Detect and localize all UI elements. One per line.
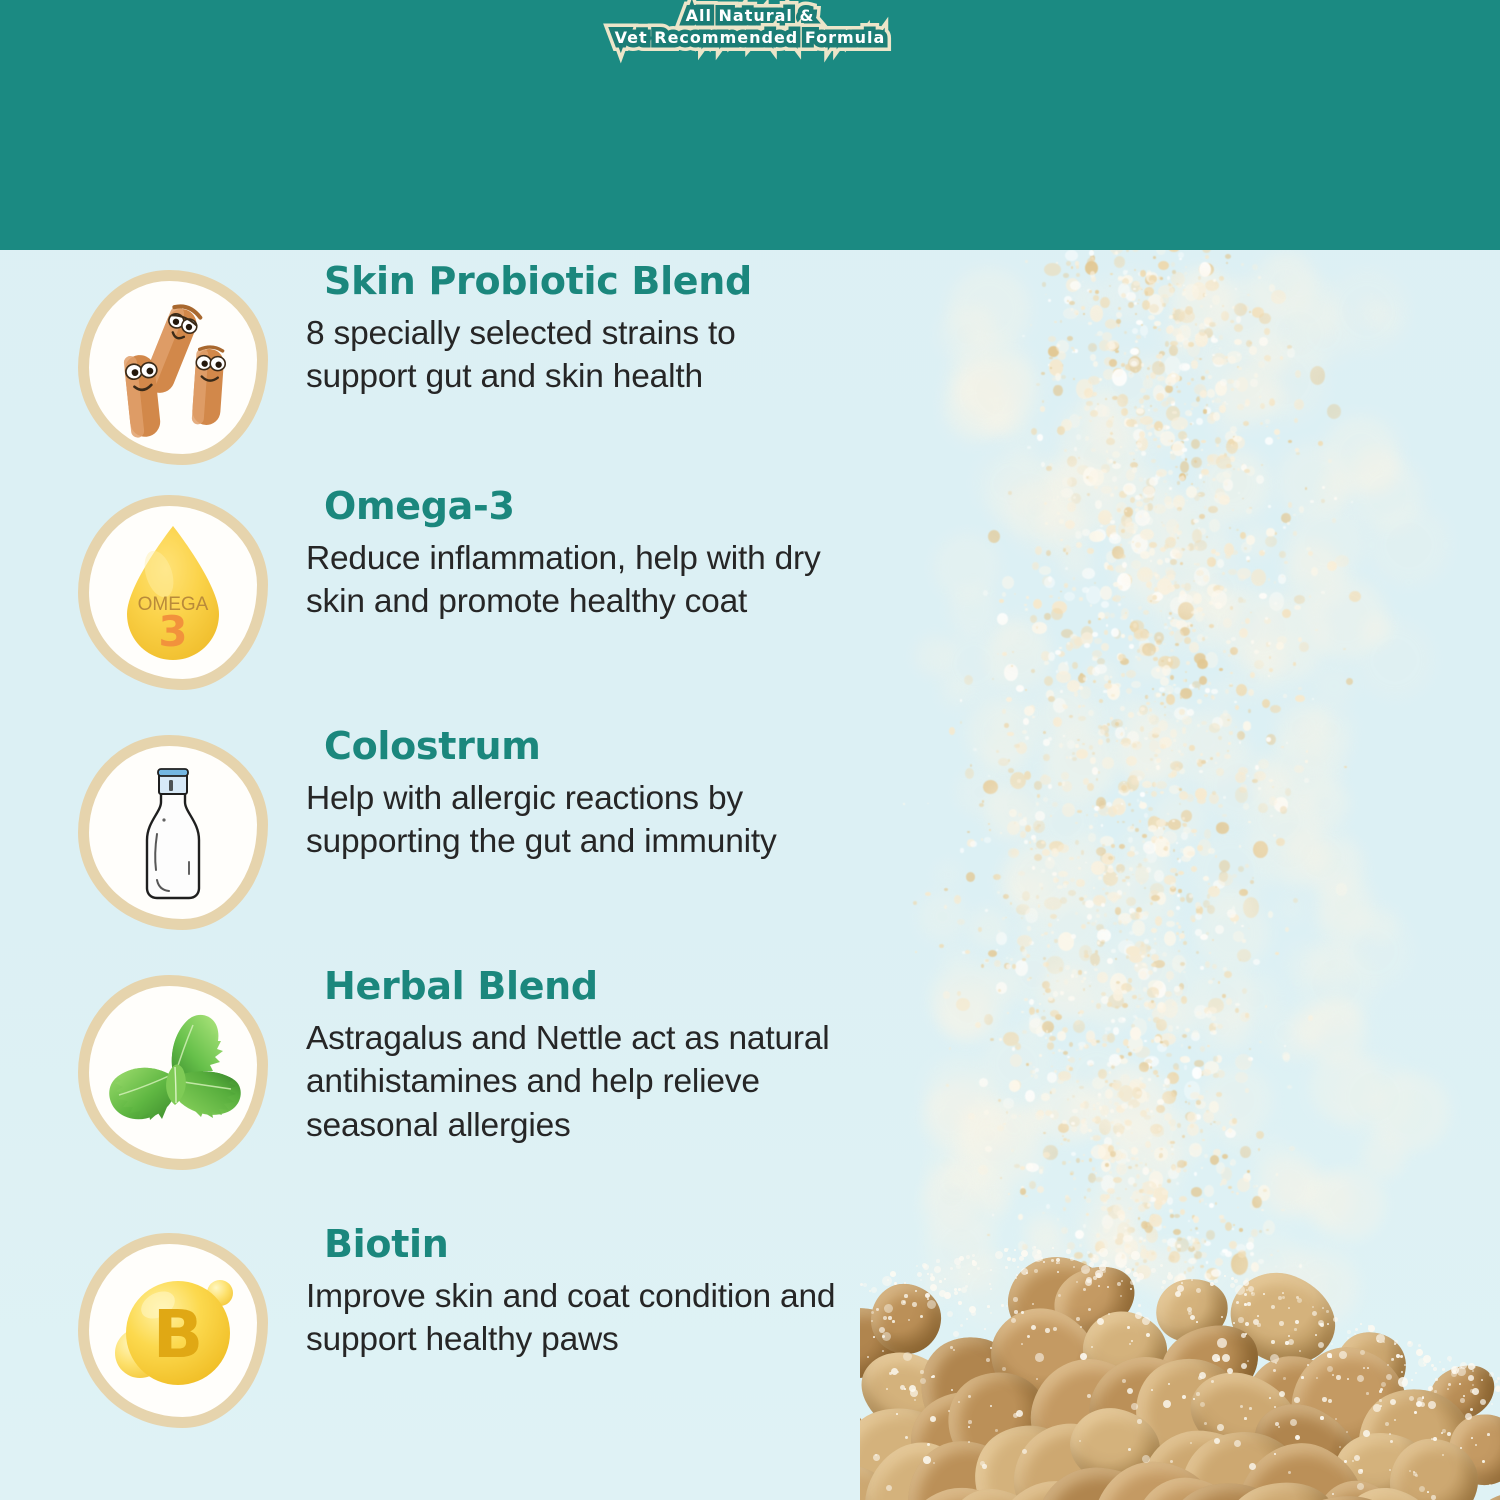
icon-art: B [89, 1244, 257, 1417]
feature-text: Biotin Improve skin and coat condition a… [306, 1225, 870, 1362]
feature-description: 8 specially selected strains to support … [306, 312, 851, 399]
biotin-letter: B [153, 1296, 203, 1373]
falling-powder-cascade [870, 250, 1430, 1270]
feature-item-biotin: B Biotin Improve skin and coat condition… [0, 1225, 870, 1428]
infographic-page: All Natural & All Natural & All Natural … [0, 0, 1500, 1500]
icon-art [89, 986, 257, 1159]
feature-description: Help with allergic reactions by supporti… [306, 777, 851, 864]
feature-text: Omega-3 Reduce inflammation, help with d… [306, 487, 870, 624]
feature-description: Reduce inflammation, help with dry skin … [306, 537, 851, 624]
icon-art: OMEGA 3 [89, 506, 257, 679]
milk-bottle-icon [78, 735, 268, 930]
feature-text: Colostrum Help with allergic reactions b… [306, 727, 870, 864]
feature-heading: Skin Probiotic Blend [324, 262, 870, 302]
nettle-leaves-icon [78, 975, 268, 1170]
feature-item-omega-3: OMEGA 3 Omega-3 Reduce inflammation, hel… [0, 487, 870, 690]
title-line-1-fill: All Natural & [0, 8, 1500, 24]
feature-item-skin-probiotic-blend: Skin Probiotic Blend 8 specially selecte… [0, 262, 870, 465]
icon-art [89, 281, 257, 454]
feature-heading: Colostrum [324, 727, 870, 767]
header-banner: All Natural & All Natural & All Natural … [0, 0, 1500, 250]
dog-treat-kibble-pile [860, 1170, 1500, 1500]
product-photo-area [860, 250, 1500, 1500]
feature-description: Astragalus and Nettle act as natural ant… [306, 1017, 851, 1148]
feature-text: Skin Probiotic Blend 8 specially selecte… [306, 262, 870, 399]
omega-number: 3 [158, 607, 187, 656]
feature-description: Improve skin and coat condition and supp… [306, 1275, 851, 1362]
feature-heading: Biotin [324, 1225, 870, 1265]
feature-heading: Herbal Blend [324, 967, 870, 1007]
page-title: All Natural & All Natural & All Natural … [0, 8, 1500, 47]
biotin-capsule-icon: B [78, 1233, 268, 1428]
omega-3-droplet-icon: OMEGA 3 [78, 495, 268, 690]
title-line-2: Vet Recommended Formula Vet Recommended … [0, 30, 1500, 46]
feature-heading: Omega-3 [324, 487, 870, 527]
probiotic-bacteria-icon [78, 270, 268, 465]
feature-item-colostrum: Colostrum Help with allergic reactions b… [0, 727, 870, 930]
feature-item-herbal-blend: Herbal Blend Astragalus and Nettle act a… [0, 967, 870, 1170]
title-line-1: All Natural & All Natural & All Natural … [0, 8, 1500, 24]
icon-art [89, 746, 257, 919]
feature-list: Skin Probiotic Blend 8 specially selecte… [0, 250, 870, 1500]
feature-text: Herbal Blend Astragalus and Nettle act a… [306, 967, 870, 1148]
title-line-2-fill: Vet Recommended Formula [0, 30, 1500, 46]
